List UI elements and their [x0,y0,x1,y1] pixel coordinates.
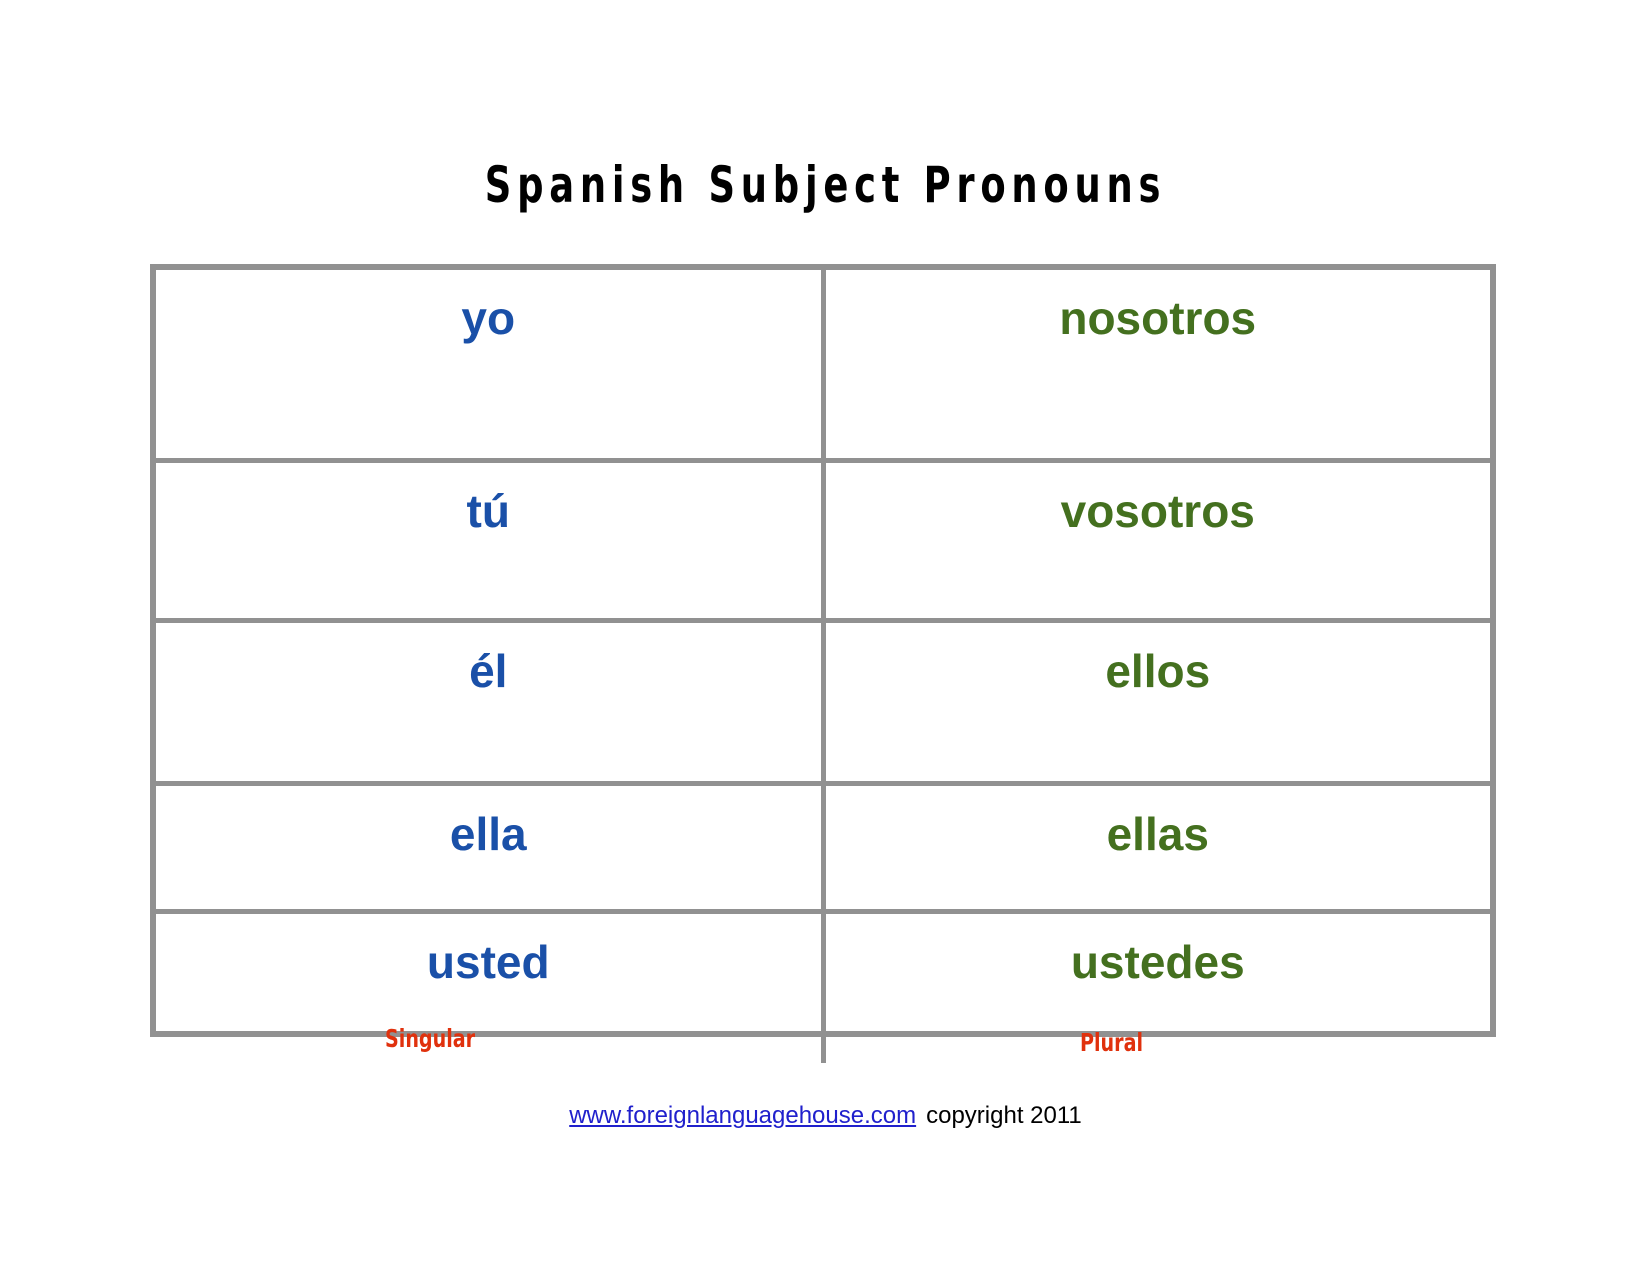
pronoun-singular: yo [156,270,821,341]
pronoun-plural: nosotros [826,270,1491,341]
pronoun-table: yo nosotros tú vosotros él [156,270,1490,1063]
cell-singular-3: él [156,621,823,784]
column-label-singular: Singular [385,1024,475,1053]
worksheet-page: Spanish Subject Pronouns yo nosotros tú [0,0,1651,1275]
table-row: él ellos [156,621,1490,784]
column-label-plural: Plural [1080,1028,1143,1057]
pronoun-singular: usted [156,914,821,985]
page-title: Spanish Subject Pronouns [149,158,1503,213]
table-row: yo nosotros [156,270,1490,461]
cell-singular-4: ella [156,784,823,912]
footer-credit: www.foreignlanguagehouse.comcopyright 20… [0,1102,1651,1130]
pronoun-plural: vosotros [826,463,1491,534]
cell-singular-5: usted [156,912,823,1064]
cell-plural-1: nosotros [823,270,1490,461]
table-row: usted ustedes [156,912,1490,1064]
pronoun-plural: ellos [826,623,1491,694]
table-row: tú vosotros [156,461,1490,621]
pronoun-plural: ustedes [826,914,1491,985]
pronoun-singular: ella [156,786,821,857]
cell-singular-1: yo [156,270,823,461]
cell-plural-3: ellos [823,621,1490,784]
copyright-text: copyright 2011 [926,1102,1082,1129]
table-row: ella ellas [156,784,1490,912]
pronoun-singular: él [156,623,821,694]
pronoun-table-body: yo nosotros tú vosotros él [156,270,1490,1063]
cell-singular-2: tú [156,461,823,621]
pronoun-plural: ellas [826,786,1491,857]
pronoun-table-container: yo nosotros tú vosotros él [150,264,1496,1037]
cell-plural-5: ustedes [823,912,1490,1064]
cell-plural-4: ellas [823,784,1490,912]
website-link[interactable]: www.foreignlanguagehouse.com [569,1102,916,1129]
cell-plural-2: vosotros [823,461,1490,621]
pronoun-singular: tú [156,463,821,534]
